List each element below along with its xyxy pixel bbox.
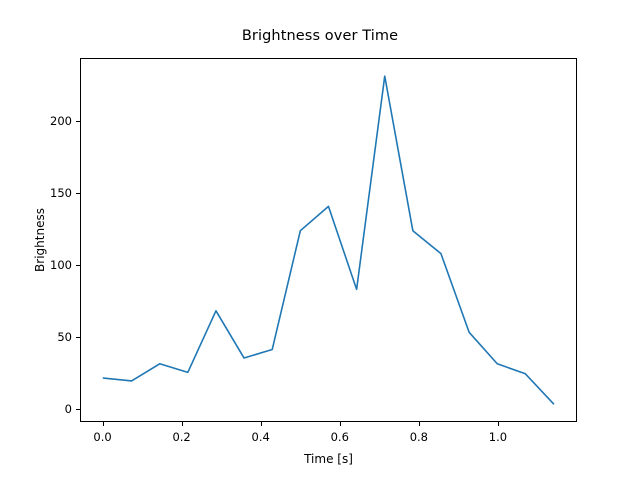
y-tick-label: 0 — [40, 402, 72, 416]
x-tick-mark — [182, 422, 183, 426]
y-tick-mark — [76, 193, 80, 194]
x-axis-label: Time [s] — [80, 452, 577, 466]
x-tick-label: 0.6 — [331, 430, 349, 444]
x-tick-label: 0.0 — [93, 430, 111, 444]
x-tick-label: 0.4 — [252, 430, 270, 444]
y-tick-label: 100 — [40, 258, 72, 272]
x-tick-mark — [340, 422, 341, 426]
x-tick-label: 0.8 — [410, 430, 428, 444]
y-tick-label: 150 — [40, 186, 72, 200]
matplotlib-figure: Brightness over Time Time [s] Brightness… — [0, 0, 640, 480]
line-series-brightness — [81, 59, 576, 421]
x-tick-label: 0.2 — [172, 430, 190, 444]
y-tick-label: 200 — [40, 114, 72, 128]
y-tick-mark — [76, 265, 80, 266]
x-tick-mark — [103, 422, 104, 426]
y-tick-mark — [76, 409, 80, 410]
x-tick-label: 1.0 — [489, 430, 507, 444]
y-tick-label: 50 — [40, 330, 72, 344]
plot-area — [80, 58, 577, 422]
chart-title: Brightness over Time — [0, 28, 640, 44]
x-tick-mark — [419, 422, 420, 426]
x-tick-mark — [498, 422, 499, 426]
x-tick-mark — [261, 422, 262, 426]
y-tick-mark — [76, 121, 80, 122]
y-tick-mark — [76, 337, 80, 338]
